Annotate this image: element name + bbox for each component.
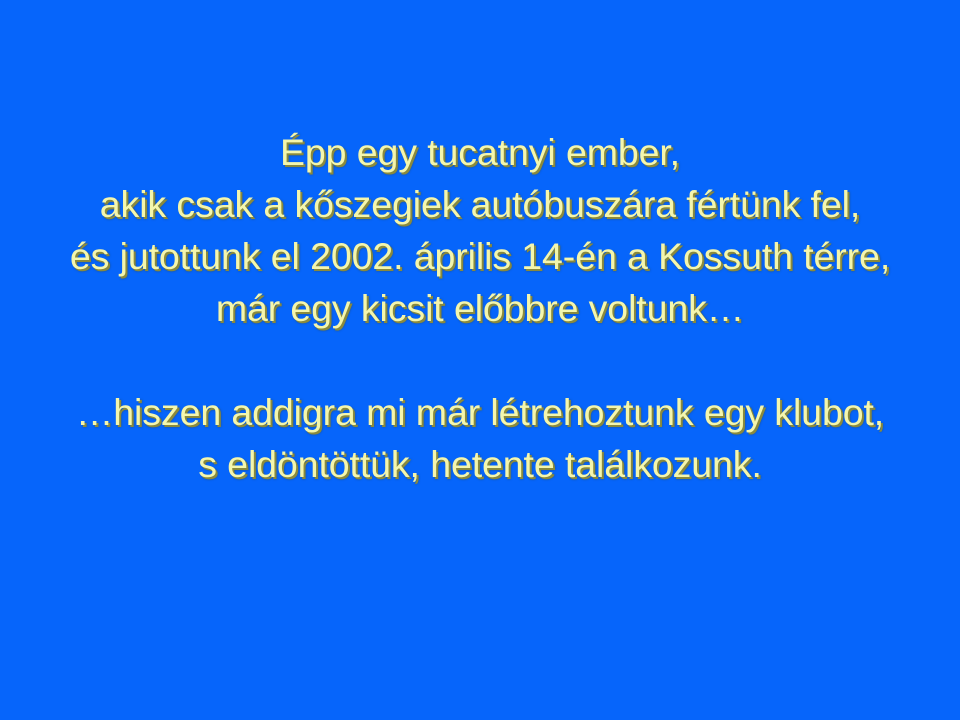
paragraph-spacer	[14, 334, 946, 386]
slide-text-line: már egy kicsit előbbre voltunk…	[14, 282, 946, 334]
slide-text-line: akik csak a kőszegiek autóbuszára fértün…	[14, 178, 946, 230]
slide-text-line: Épp egy tucatnyi ember,	[14, 126, 946, 178]
slide-text-block: Épp egy tucatnyi ember, akik csak a kősz…	[0, 126, 960, 490]
slide-canvas: Épp egy tucatnyi ember, akik csak a kősz…	[0, 0, 960, 720]
slide-text-line: és jutottunk el 2002. április 14-én a Ko…	[14, 230, 946, 282]
slide-text-line: …hiszen addigra mi már létrehoztunk egy …	[14, 386, 946, 438]
slide-text-line: s eldöntöttük, hetente találkozunk.	[14, 438, 946, 490]
